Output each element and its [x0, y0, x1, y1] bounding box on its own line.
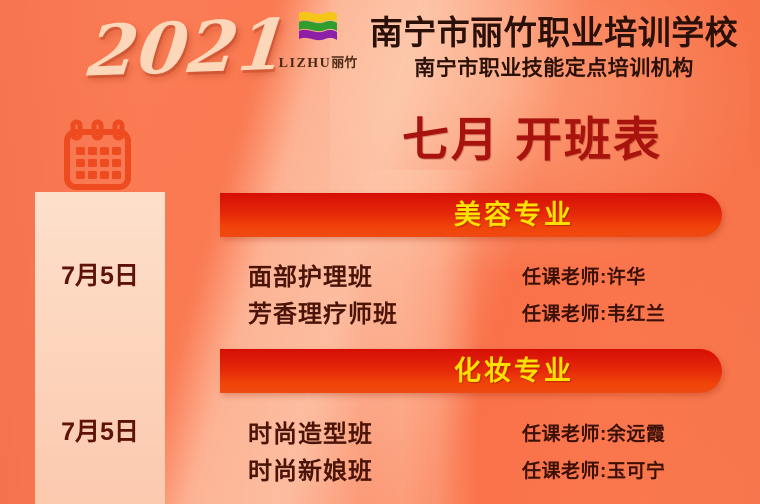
course-name: 时尚造型班	[248, 414, 373, 449]
brand-wordmark-cn: 丽竹	[331, 55, 357, 70]
section-banner-1-label: 美容专业	[220, 193, 722, 237]
date-column-panel	[35, 192, 165, 504]
school-subtitle: 南宁市职业技能定点培训机构	[356, 52, 752, 82]
poster-canvas: 2021 LIZHU丽竹 南宁市丽竹职业培训学校 南宁市职业技能定点培训机构 七…	[0, 0, 760, 504]
section-1-date: 7月5日	[35, 256, 165, 292]
calendar-icon	[63, 117, 132, 192]
section-banner-2-label: 化妆专业	[220, 349, 722, 393]
school-name: 南宁市丽竹职业培训学校	[356, 6, 752, 54]
brand-wordmark-latin: LIZHU	[279, 56, 332, 71]
section-2-date: 7月5日	[35, 412, 165, 448]
course-teacher: 任课老师:许华	[522, 262, 646, 289]
course-teacher: 任课老师:玉可宁	[522, 456, 665, 483]
course-teacher: 任课老师:韦红兰	[522, 299, 665, 326]
course-name: 面部护理班	[248, 257, 373, 292]
lizhu-flag-icon	[296, 8, 340, 50]
course-name: 芳香理疗师班	[248, 294, 398, 329]
brand-wordmark: LIZHU丽竹	[268, 52, 368, 72]
brand-logo: LIZHU丽竹	[268, 8, 368, 72]
course-name: 时尚新娘班	[248, 451, 373, 486]
year-label: 2021	[78, 0, 300, 95]
page-title: 七月 开班表	[352, 101, 712, 170]
course-teacher: 任课老师:余远霞	[522, 419, 665, 446]
